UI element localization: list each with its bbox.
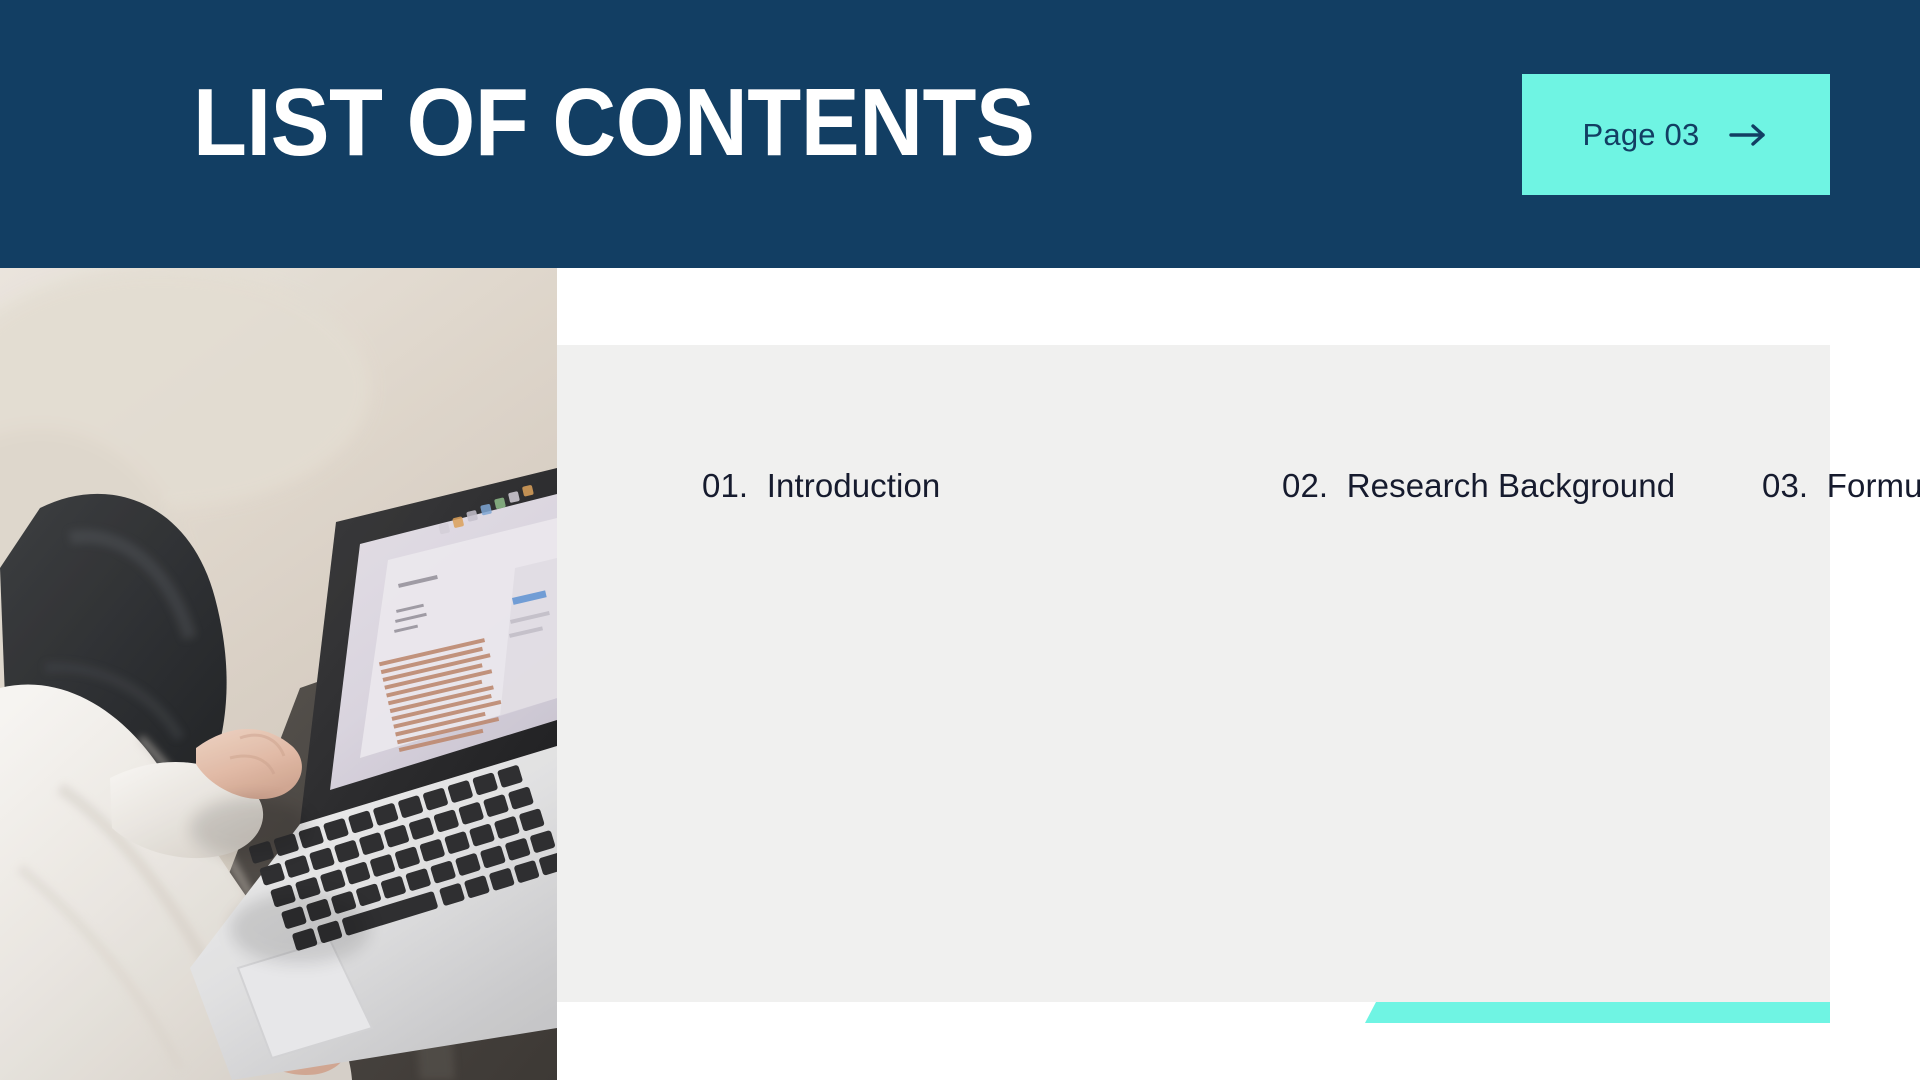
- toc-item-03[interactable]: 03. Formulation Problem: [1762, 467, 1920, 505]
- toc-label: Research Background: [1347, 467, 1675, 504]
- toc-number: 01.: [702, 467, 757, 504]
- contents-panel: 01. Introduction 02. Research Background…: [557, 345, 1830, 1002]
- page-title: LIST OF CONTENTS: [193, 74, 1034, 172]
- page-badge-label: Page 03: [1583, 117, 1700, 153]
- hero-photo: [0, 268, 557, 1080]
- table-of-contents-list: 01. Introduction 02. Research Background…: [702, 445, 1762, 527]
- slide-list-of-contents: LIST OF CONTENTS Page 03: [0, 0, 1920, 1080]
- arrow-right-icon: [1729, 122, 1769, 148]
- toc-number: 03.: [1762, 467, 1817, 504]
- toc-number: 02.: [1282, 467, 1337, 504]
- toc-item-02[interactable]: 02. Research Background: [1282, 467, 1762, 505]
- toc-item-01[interactable]: 01. Introduction: [702, 467, 1282, 505]
- page-badge-button[interactable]: Page 03: [1522, 74, 1830, 195]
- toc-label: Formulation Problem: [1827, 467, 1920, 504]
- header-band: LIST OF CONTENTS Page 03: [0, 0, 1920, 268]
- toc-label: Introduction: [767, 467, 941, 504]
- accent-bar: [1365, 1002, 1830, 1023]
